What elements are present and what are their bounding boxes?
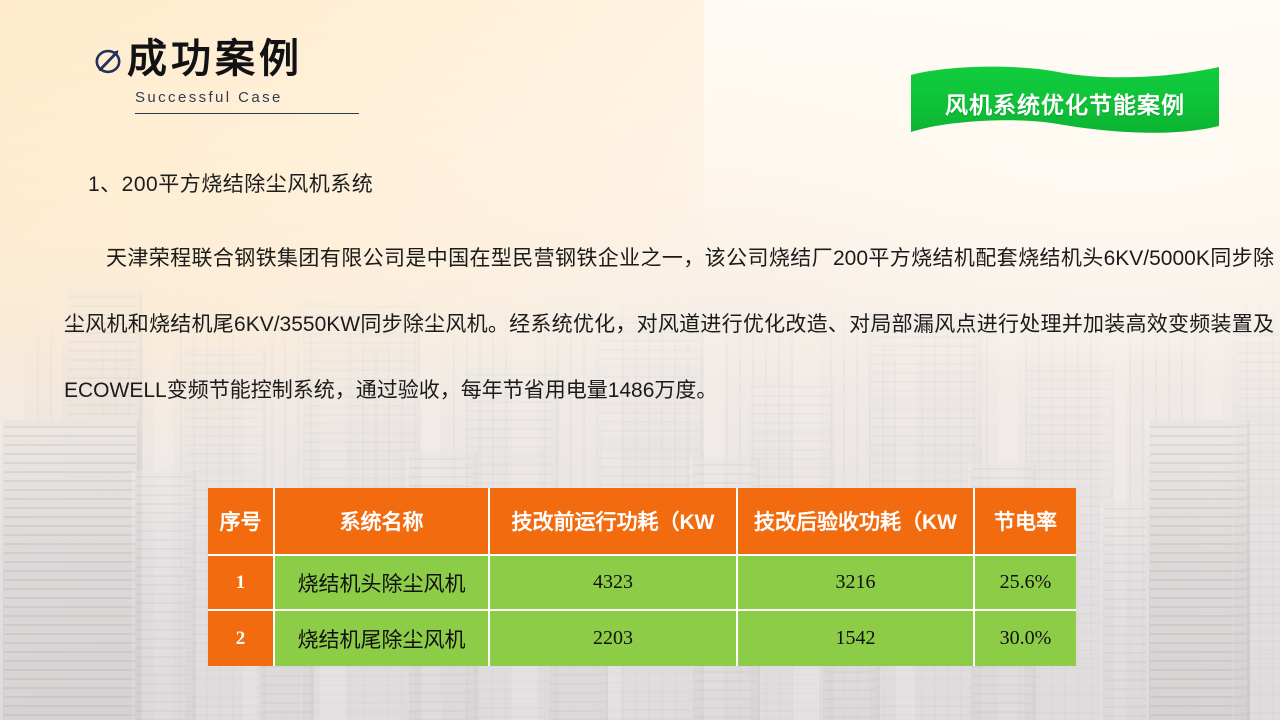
- content-block: 1、200平方烧结除尘风机系统 天津荣程联合钢铁集团有限公司是中国在型民营钢铁企…: [0, 168, 1280, 424]
- page-title-cn: 成功案例: [127, 38, 303, 80]
- circle-slash-icon: [93, 46, 123, 76]
- section-heading: 1、200平方烧结除尘风机系统: [88, 168, 1280, 198]
- page-title-en: Successful Case: [135, 89, 359, 106]
- cell-saving: 25.6%: [975, 556, 1076, 611]
- table-row: 2 烧结机尾除尘风机 2203 1542 30.0%: [208, 611, 1076, 666]
- results-table: 序号 系统名称 技改前运行功耗（KW 技改后验收功耗（KW 节电率 1 烧结机头…: [208, 488, 1076, 666]
- cell-index: 1: [208, 556, 275, 611]
- cell-system: 烧结机尾除尘风机: [275, 611, 490, 666]
- column-header-system: 系统名称: [275, 488, 490, 556]
- cell-saving: 30.0%: [975, 611, 1076, 666]
- table-row: 1 烧结机头除尘风机 4323 3216 25.6%: [208, 556, 1076, 611]
- cell-index: 2: [208, 611, 275, 666]
- cell-after: 1542: [738, 611, 975, 666]
- column-header-after: 技改后验收功耗（KW: [738, 488, 975, 556]
- column-header-index: 序号: [208, 488, 275, 556]
- cell-after: 3216: [738, 556, 975, 611]
- cell-before: 4323: [490, 556, 738, 611]
- cell-before: 2203: [490, 611, 738, 666]
- title-underline: [135, 113, 359, 114]
- table-header-row: 序号 系统名称 技改前运行功耗（KW 技改后验收功耗（KW 节电率: [208, 488, 1076, 556]
- column-header-before: 技改前运行功耗（KW: [490, 488, 738, 556]
- column-header-saving: 节电率: [975, 488, 1076, 556]
- section-banner-label: 风机系统优化节能案例: [908, 86, 1222, 120]
- page-title: 成功案例 Successful Case: [93, 38, 359, 114]
- section-banner: 风机系统优化节能案例: [908, 62, 1222, 144]
- slide-canvas: 成功案例 Successful Case 风机系统优化节能案例 1、200平方烧…: [0, 0, 1280, 720]
- cell-system: 烧结机头除尘风机: [275, 556, 490, 611]
- section-paragraph: 天津荣程联合钢铁集团有限公司是中国在型民营钢铁企业之一，该公司烧结厂200平方烧…: [0, 226, 1280, 424]
